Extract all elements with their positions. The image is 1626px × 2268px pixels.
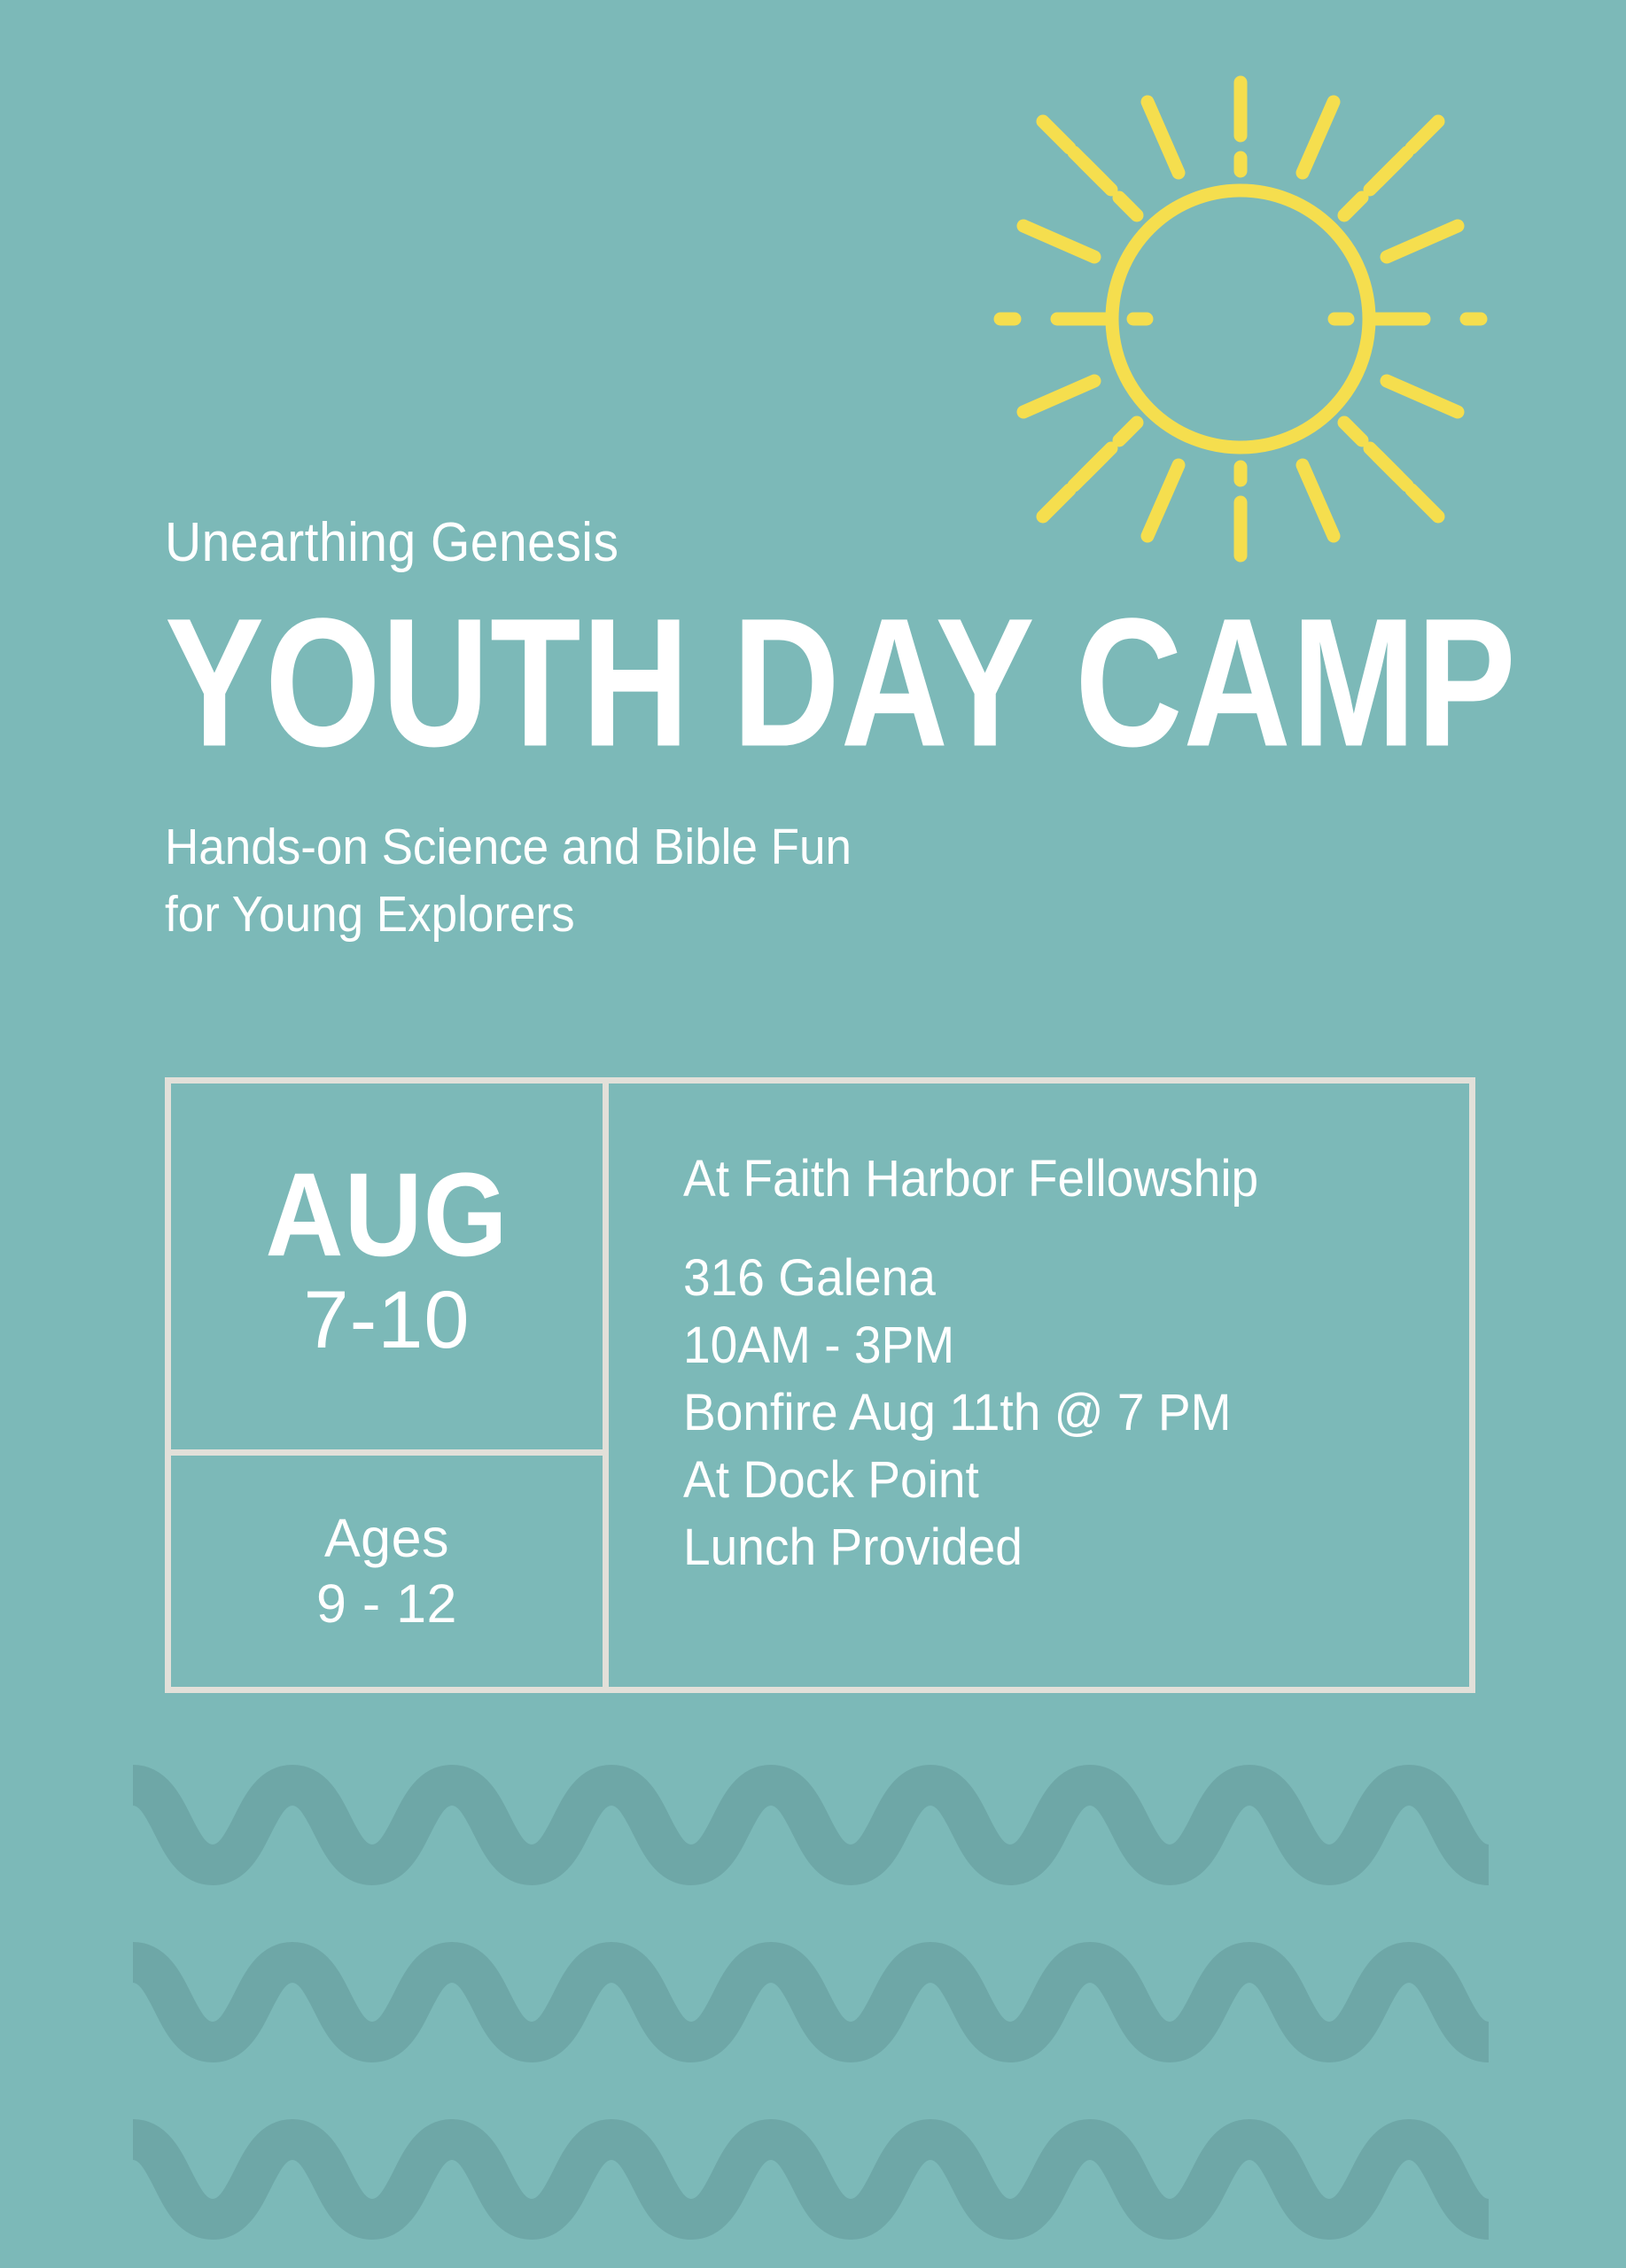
headline-block: Unearthing Genesis YOUTH DAY CAMP Hands-… xyxy=(165,514,1476,949)
poster-main-title: YOUTH DAY CAMP xyxy=(165,603,1424,765)
detail-line-hours: 10AM - 3PM xyxy=(683,1312,1430,1379)
poster-canvas: Unearthing Genesis YOUTH DAY CAMP Hands-… xyxy=(0,0,1626,2268)
info-left-column: AUG 7-10 Ages 9 - 12 xyxy=(171,1084,609,1687)
details-list: 316 Galena 10AM - 3PM Bonfire Aug 11th @… xyxy=(683,1245,1469,1581)
tagline-line-2: for Young Explorers xyxy=(165,882,1384,949)
ages-range: 9 - 12 xyxy=(316,1572,457,1636)
detail-line-lunch: Lunch Provided xyxy=(683,1514,1430,1581)
event-info-box: AUG 7-10 Ages 9 - 12 At Faith Harbor Fel… xyxy=(165,1077,1475,1693)
ages-cell: Ages 9 - 12 xyxy=(171,1456,603,1687)
date-month: AUG xyxy=(265,1161,508,1269)
detail-line-bonfire: Bonfire Aug 11th @ 7 PM xyxy=(683,1379,1430,1447)
ages-label: Ages xyxy=(324,1506,449,1571)
date-day-range: 7-10 xyxy=(303,1279,470,1361)
wave-lines-icon xyxy=(133,1750,1498,2264)
date-cell: AUG 7-10 xyxy=(171,1084,603,1456)
detail-line-bonfire-location: At Dock Point xyxy=(683,1447,1430,1514)
sun-icon xyxy=(988,66,1493,571)
venue-name: At Faith Harbor Fellowship xyxy=(683,1151,1430,1208)
detail-line-address: 316 Galena xyxy=(683,1245,1430,1312)
poster-tagline: Hands-on Science and Bible Fun for Young… xyxy=(165,814,1384,949)
poster-eyebrow-title: Unearthing Genesis xyxy=(165,514,1372,571)
tagline-line-1: Hands-on Science and Bible Fun xyxy=(165,814,1384,882)
details-cell: At Faith Harbor Fellowship 316 Galena 10… xyxy=(609,1084,1469,1687)
